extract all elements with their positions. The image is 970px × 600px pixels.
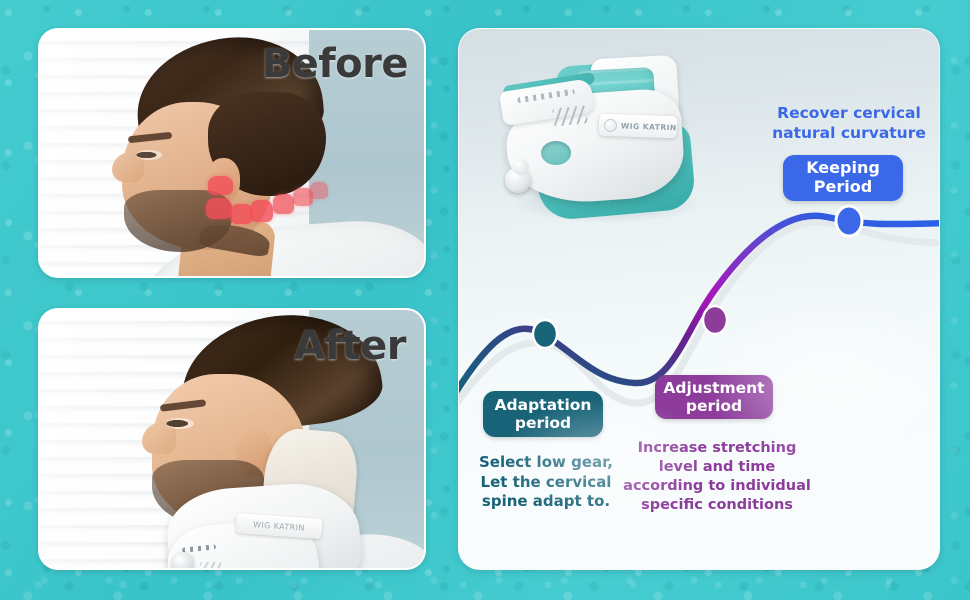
- badge-keeping-period[interactable]: Keeping Period: [783, 155, 903, 201]
- progress-curve: [459, 216, 940, 397]
- after-photo-panel: WIG KATRIN After: [38, 308, 426, 570]
- before-photo: Before: [40, 30, 424, 276]
- pain-marker-icon: [206, 198, 232, 219]
- product-brand-badge: WIG KATRIN: [599, 114, 678, 139]
- caption-adjustment: Increase stretching level and time accor…: [617, 439, 817, 514]
- power-button-icon: [604, 118, 617, 131]
- pain-marker-icon: [310, 182, 328, 199]
- before-label: Before: [262, 44, 408, 84]
- product-tension-knob-inner: [513, 159, 529, 175]
- chart-headline: Recover cervical natural curvature: [759, 103, 939, 144]
- badge-adaptation-period[interactable]: Adaptation period: [483, 391, 603, 437]
- marker-adaptation[interactable]: [533, 320, 557, 348]
- product-brand-text: WIG KATRIN: [621, 121, 677, 132]
- product-opening: [541, 141, 571, 165]
- progress-chart-panel: WIG KATRIN: [458, 28, 940, 570]
- product-slots: [552, 105, 588, 126]
- before-photo-panel: Before: [38, 28, 426, 278]
- after-photo: WIG KATRIN After: [40, 310, 424, 568]
- before-eye: [136, 150, 162, 160]
- pain-marker-icon: [273, 194, 294, 214]
- pain-marker-icon: [250, 200, 273, 222]
- badge-adjustment-period[interactable]: Adjustment period: [655, 375, 773, 419]
- caption-adaptation: Select low gear, Let the cervical spine …: [467, 453, 625, 512]
- after-eye: [166, 418, 194, 429]
- marker-keeping[interactable]: [836, 206, 862, 236]
- infographic-root: Before WIG KATRI: [0, 0, 970, 600]
- after-label: After: [294, 326, 406, 366]
- pain-marker-icon: [208, 176, 233, 195]
- brace-adjust-knob: [172, 552, 194, 568]
- brace-vent-slot: [200, 562, 222, 568]
- product-image: WIG KATRIN: [501, 55, 713, 231]
- marker-adjustment[interactable]: [703, 306, 727, 334]
